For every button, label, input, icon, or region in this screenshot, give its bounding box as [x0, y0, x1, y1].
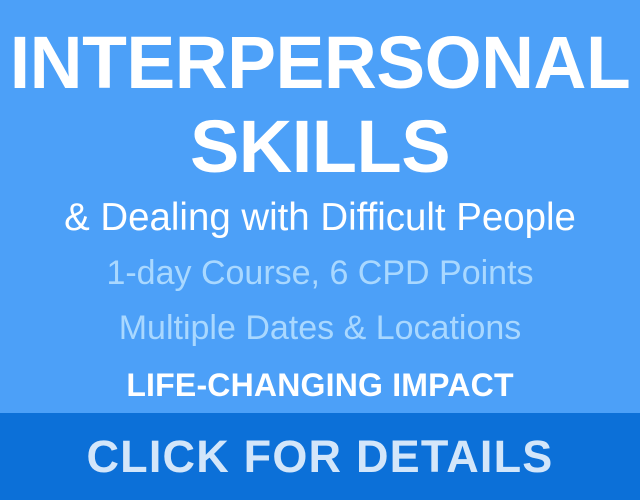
- banner-content: INTERPERSONAL SKILLS & Dealing with Diff…: [0, 0, 640, 413]
- banner-tagline: LIFE-CHANGING IMPACT: [0, 369, 640, 403]
- cta-button[interactable]: CLICK FOR DETAILS: [0, 413, 640, 500]
- detail-course-duration: 1-day Course, 6 CPD Points: [0, 256, 640, 294]
- banner-subtitle: & Dealing with Difficult People: [5, 198, 635, 240]
- headline-secondary: SKILLS: [0, 110, 640, 184]
- cta-button-label: CLICK FOR DETAILS: [86, 434, 553, 479]
- advertisement-banner[interactable]: INTERPERSONAL SKILLS & Dealing with Diff…: [0, 0, 640, 500]
- detail-dates-locations: Multiple Dates & Locations: [0, 311, 640, 349]
- headline-primary: INTERPERSONAL: [3, 26, 637, 100]
